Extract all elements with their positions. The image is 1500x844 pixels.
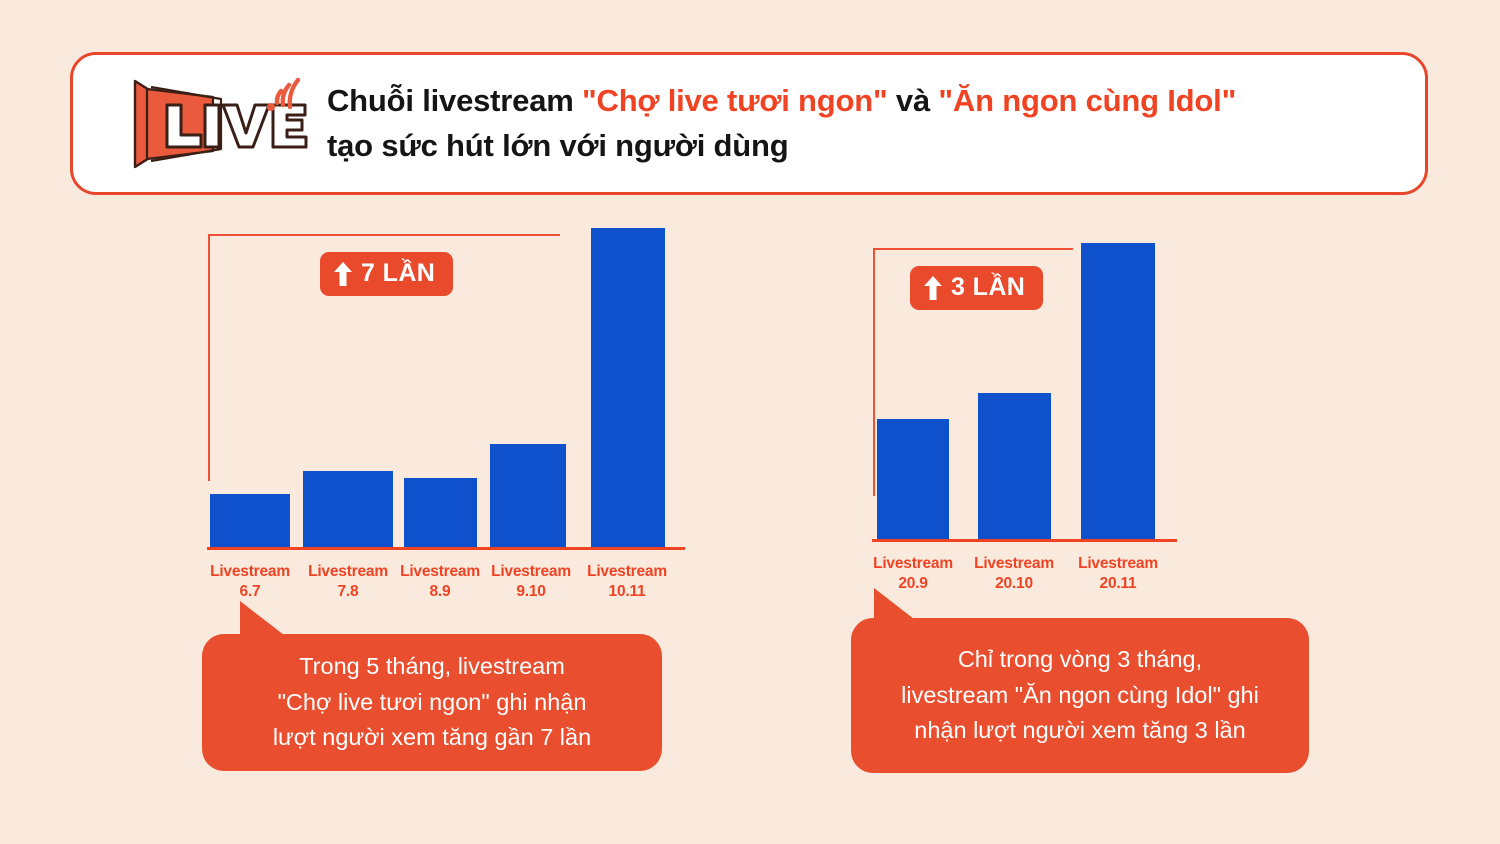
callout-left-tail <box>240 601 284 635</box>
x-tick-label-line1: Livestream <box>480 562 582 582</box>
axis-baseline-left <box>207 547 685 550</box>
title-text-2: và <box>888 83 939 118</box>
title-text-1: Chuỗi livestream <box>327 83 582 118</box>
live-broadcast-logo <box>125 69 315 179</box>
x-tick-livestream-6-7: Livestream 6.7 <box>199 562 301 602</box>
chart-an-ngon-cung-idol: 3 LẦN Livestream 20.9 Livestream 20.10 L… <box>872 243 1177 603</box>
bar-livestream-20-10 <box>978 393 1051 540</box>
callout-left-text: Trong 5 tháng, livestream "Chợ live tươi… <box>273 649 591 756</box>
callout-left-line-3: lượt người xem tăng gần 7 lần <box>273 720 591 756</box>
title-quote-2: "Ăn ngon cùng Idol" <box>938 83 1236 118</box>
callout-right: Chỉ trong vòng 3 tháng, livestream "Ăn n… <box>851 618 1309 773</box>
x-tick-label-line2: 8.9 <box>389 582 491 602</box>
x-tick-label-line2: 10.11 <box>576 582 678 602</box>
x-tick-label-line1: Livestream <box>389 562 491 582</box>
callout-right-line-1: Chỉ trong vòng 3 tháng, <box>901 642 1259 678</box>
title-quote-1: "Chợ live tươi ngon" <box>582 83 887 118</box>
callout-right-line-3: nhận lượt người xem tăng 3 lần <box>901 713 1259 749</box>
page-title: Chuỗi livestream "Chợ live tươi ngon" và… <box>327 79 1236 167</box>
axis-baseline-right <box>872 539 1177 542</box>
bar-livestream-9-10 <box>490 444 566 548</box>
bar-livestream-10-11 <box>591 228 665 548</box>
x-tick-label-line1: Livestream <box>199 562 301 582</box>
header-card: Chuỗi livestream "Chợ live tươi ngon" và… <box>70 52 1428 195</box>
chart-cho-live-tuoi-ngon: 7 LẦN Livestream 6.7 Livestream 7.8 Live… <box>207 228 685 608</box>
callout-left: Trong 5 tháng, livestream "Chợ live tươi… <box>202 634 662 771</box>
bar-livestream-7-8 <box>303 471 393 548</box>
bar-livestream-20-11 <box>1081 243 1155 540</box>
callout-right-tail <box>874 588 914 619</box>
x-tick-label-line2: 7.8 <box>297 582 399 602</box>
page-title-line-2: tạo sức hút lớn với người dùng <box>327 124 1236 168</box>
x-tick-label-line2: 6.7 <box>199 582 301 602</box>
x-tick-label-line2: 9.10 <box>480 582 582 602</box>
bar-livestream-6-7 <box>210 494 290 548</box>
callout-right-text: Chỉ trong vòng 3 tháng, livestream "Ăn n… <box>901 642 1259 749</box>
callout-left-line-2: "Chợ live tươi ngon" ghi nhận <box>273 685 591 721</box>
x-tick-label-line2: 20.11 <box>1067 574 1169 594</box>
x-tick-label-line1: Livestream <box>297 562 399 582</box>
x-tick-label-line1: Livestream <box>862 554 964 574</box>
x-tick-label-line2: 20.10 <box>963 574 1065 594</box>
plot-area-left <box>207 228 685 548</box>
bar-livestream-20-9 <box>877 419 949 540</box>
plot-area-right <box>872 243 1177 540</box>
x-tick-livestream-9-10: Livestream 9.10 <box>480 562 582 602</box>
bar-livestream-8-9 <box>404 478 477 548</box>
page-title-line-1: Chuỗi livestream "Chợ live tươi ngon" và… <box>327 79 1236 123</box>
x-tick-label-line1: Livestream <box>1067 554 1169 574</box>
x-tick-livestream-7-8: Livestream 7.8 <box>297 562 399 602</box>
x-tick-label-line1: Livestream <box>963 554 1065 574</box>
callout-right-line-2: livestream "Ăn ngon cùng Idol" ghi <box>901 678 1259 714</box>
x-tick-livestream-20-11: Livestream 20.11 <box>1067 554 1169 594</box>
callout-left-line-1: Trong 5 tháng, livestream <box>273 649 591 685</box>
x-tick-livestream-8-9: Livestream 8.9 <box>389 562 491 602</box>
x-tick-label-line1: Livestream <box>576 562 678 582</box>
x-tick-livestream-10-11: Livestream 10.11 <box>576 562 678 602</box>
x-tick-livestream-20-10: Livestream 20.10 <box>963 554 1065 594</box>
